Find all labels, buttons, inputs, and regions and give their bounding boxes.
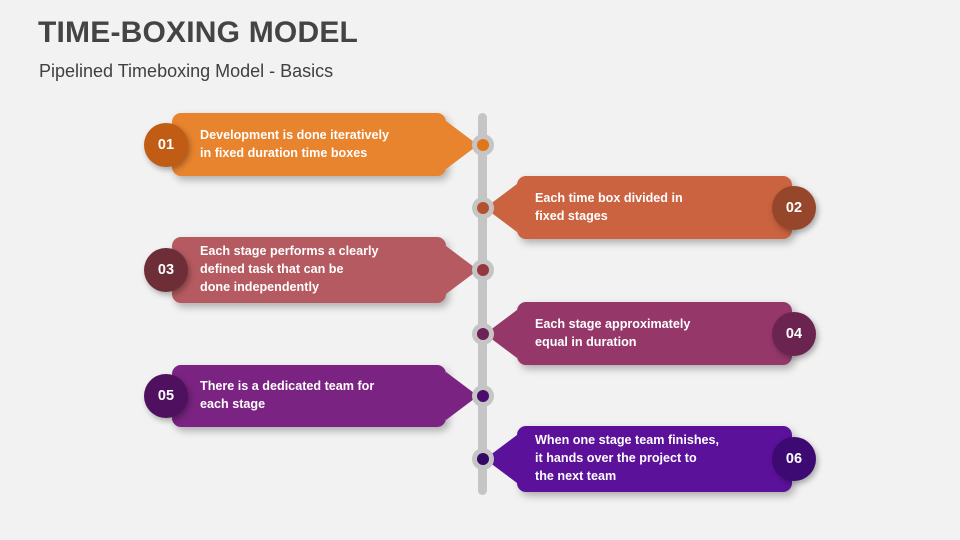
timeline-node-core — [477, 453, 489, 465]
callout-box[interactable]: Each time box divided in fixed stages — [517, 176, 792, 239]
step-number-badge: 06 — [772, 437, 816, 481]
step-number-badge: 02 — [772, 186, 816, 230]
timeline-node-core — [477, 139, 489, 151]
step-number-label: 05 — [158, 388, 174, 404]
timeline-node-02 — [472, 197, 494, 219]
timeline-node-core — [477, 264, 489, 276]
callout-text: Development is done iteratively in fixed… — [200, 127, 389, 163]
callout-box[interactable]: Development is done iteratively in fixed… — [172, 113, 446, 176]
step-number-badge: 01 — [144, 123, 188, 167]
timeline-node-03 — [472, 259, 494, 281]
timeline-node-core — [477, 328, 489, 340]
callout-text: Each stage approximately equal in durati… — [535, 316, 690, 352]
callout-text: There is a dedicated team for each stage — [200, 378, 374, 414]
slide-canvas: TIME-BOXING MODEL Pipelined Timeboxing M… — [0, 0, 960, 540]
step-number-badge: 04 — [772, 312, 816, 356]
step-number-label: 06 — [786, 451, 802, 467]
step-number-label: 04 — [786, 326, 802, 342]
callout-box[interactable]: There is a dedicated team for each stage — [172, 365, 446, 427]
page-subtitle: Pipelined Timeboxing Model - Basics — [39, 61, 333, 82]
callout-box[interactable]: When one stage team finishes, it hands o… — [517, 426, 792, 492]
step-number-badge: 05 — [144, 374, 188, 418]
timeline-node-05 — [472, 385, 494, 407]
step-number-label: 01 — [158, 137, 174, 153]
step-number-label: 02 — [786, 200, 802, 216]
timeline-node-06 — [472, 448, 494, 470]
callout-text: Each time box divided in fixed stages — [535, 190, 683, 226]
page-title: TIME-BOXING MODEL — [38, 16, 358, 50]
callout-text: Each stage performs a clearly defined ta… — [200, 243, 379, 297]
step-number-label: 03 — [158, 262, 174, 278]
callout-box[interactable]: Each stage performs a clearly defined ta… — [172, 237, 446, 303]
callout-box[interactable]: Each stage approximately equal in durati… — [517, 302, 792, 365]
callout-text: When one stage team finishes, it hands o… — [535, 432, 719, 486]
step-number-badge: 03 — [144, 248, 188, 292]
timeline-node-01 — [472, 134, 494, 156]
timeline-node-core — [477, 390, 489, 402]
timeline-node-core — [477, 202, 489, 214]
timeline-node-04 — [472, 323, 494, 345]
